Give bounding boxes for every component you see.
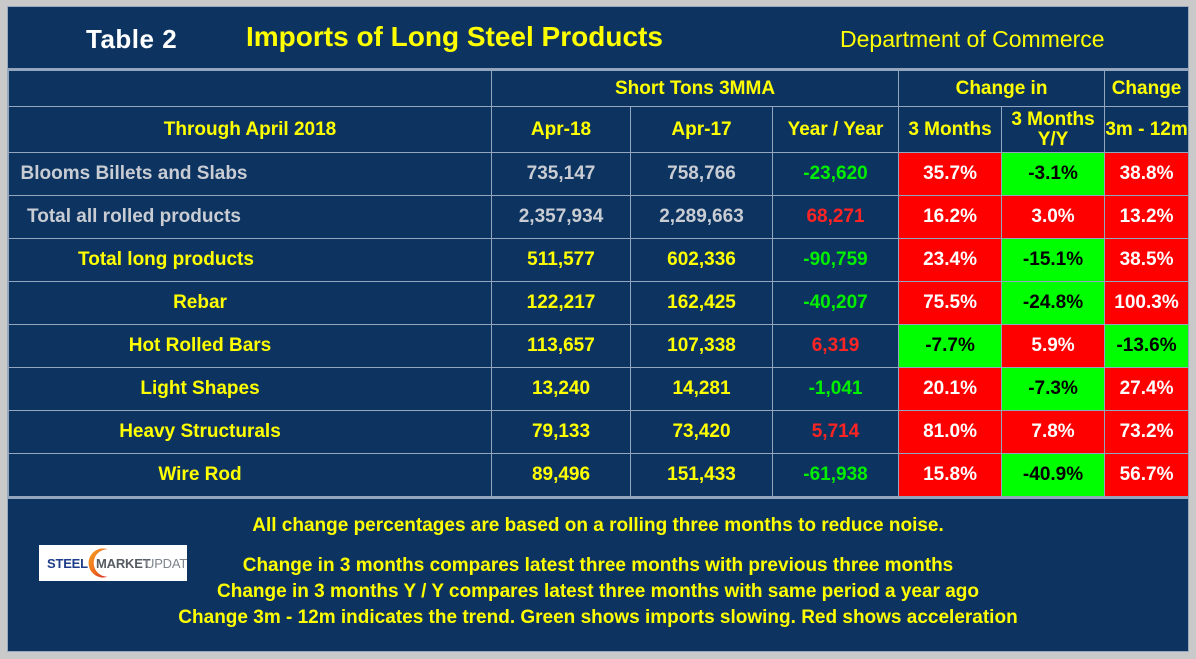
table-row: Total long products511,577602,336-90,759… [9,239,1189,282]
row-label-text: Total all rolled products [27,206,241,228]
row-label-text: Rebar [173,292,227,314]
cell-change-3m-12m: -13.6% [1105,325,1189,368]
table-panel: Table 2 Imports of Long Steel Products D… [7,6,1189,652]
footer-notes: STEEL MARKET UPDATE All change percentag… [8,497,1188,645]
data-source-label: Department of Commerce [840,26,1105,53]
cell-apr18: 89,496 [492,454,631,497]
row-label-cell: Rebar [9,282,492,325]
page-title: Imports of Long Steel Products [246,21,663,53]
cell-apr17: 602,336 [631,239,773,282]
cell-year-over-year: -1,041 [773,368,899,411]
cell-year-over-year: 6,319 [773,325,899,368]
cell-change-3-months: 35.7% [899,153,1002,196]
cell-apr17: 14,281 [631,368,773,411]
table-header-group-row: Short Tons 3MMA Change in Change [9,71,1189,107]
header-col-3m-12m: 3m - 12m [1105,107,1189,153]
cell-change-3-months-yy: -40.9% [1002,454,1105,497]
cell-change-3-months: 15.8% [899,454,1002,497]
row-label-cell: Blooms Billets and Slabs [9,153,492,196]
cell-apr18: 13,240 [492,368,631,411]
imports-table: Short Tons 3MMA Change in Change Through… [8,70,1189,497]
cell-apr17: 2,289,663 [631,196,773,239]
row-label-cell: Light Shapes [9,368,492,411]
footer-note-line-4: Change 3m - 12m indicates the trend. Gre… [8,607,1188,629]
header-group-change-in: Change in [899,71,1105,107]
cell-year-over-year: -40,207 [773,282,899,325]
footer-note-line-3: Change in 3 months Y / Y compares latest… [8,581,1188,603]
screenshot-frame: Table 2 Imports of Long Steel Products D… [0,0,1196,659]
header-col-3-months-yy-line2: Y/Y [1038,129,1069,150]
cell-year-over-year: -61,938 [773,454,899,497]
row-label-text: Blooms Billets and Slabs [21,163,248,185]
title-bar: Table 2 Imports of Long Steel Products D… [8,7,1188,70]
cell-change-3-months-yy: 5.9% [1002,325,1105,368]
cell-apr18: 113,657 [492,325,631,368]
cell-change-3m-12m: 38.5% [1105,239,1189,282]
cell-change-3m-12m: 100.3% [1105,282,1189,325]
cell-change-3m-12m: 38.8% [1105,153,1189,196]
cell-apr17: 162,425 [631,282,773,325]
cell-apr18: 79,133 [492,411,631,454]
footer-note-line-1: All change percentages are based on a ro… [8,515,1188,537]
cell-apr18: 511,577 [492,239,631,282]
table-row: Total all rolled products2,357,9342,289,… [9,196,1189,239]
row-label-cell: Hot Rolled Bars [9,325,492,368]
cell-change-3-months: 20.1% [899,368,1002,411]
row-label-text: Heavy Structurals [119,421,281,443]
cell-year-over-year: -90,759 [773,239,899,282]
cell-apr17: 758,766 [631,153,773,196]
cell-change-3m-12m: 73.2% [1105,411,1189,454]
header-col-year-over-year: Year / Year [773,107,899,153]
cell-apr18: 735,147 [492,153,631,196]
cell-change-3-months: 16.2% [899,196,1002,239]
cell-change-3-months-yy: 3.0% [1002,196,1105,239]
table-number-label: Table 2 [86,24,177,55]
header-group-change: Change [1105,71,1189,107]
row-label-text: Light Shapes [140,378,259,400]
table-row: Hot Rolled Bars113,657107,3386,319-7.7%5… [9,325,1189,368]
table-row: Heavy Structurals79,13373,4205,71481.0%7… [9,411,1189,454]
cell-apr18: 122,217 [492,282,631,325]
footer-note-line-2: Change in 3 months compares latest three… [8,555,1188,577]
row-label-text: Total long products [78,249,254,271]
cell-change-3-months: 81.0% [899,411,1002,454]
cell-change-3-months-yy: -24.8% [1002,282,1105,325]
table-row: Blooms Billets and Slabs735,147758,766-2… [9,153,1189,196]
header-col-apr17: Apr-17 [631,107,773,153]
table-row: Light Shapes13,24014,281-1,04120.1%-7.3%… [9,368,1189,411]
cell-year-over-year: -23,620 [773,153,899,196]
table-header-column-row: Through April 2018 Apr-18 Apr-17 Year / … [9,107,1189,153]
header-col-3-months-yy: 3 Months Y/Y [1002,107,1105,153]
cell-year-over-year: 5,714 [773,411,899,454]
row-label-text: Hot Rolled Bars [129,335,272,357]
cell-change-3-months-yy: 7.8% [1002,411,1105,454]
cell-change-3m-12m: 13.2% [1105,196,1189,239]
cell-change-3-months: 23.4% [899,239,1002,282]
row-label-cell: Total all rolled products [9,196,492,239]
row-label-cell: Wire Rod [9,454,492,497]
cell-change-3m-12m: 27.4% [1105,368,1189,411]
header-blank-cell [9,71,492,107]
cell-change-3-months: 75.5% [899,282,1002,325]
cell-change-3m-12m: 56.7% [1105,454,1189,497]
cell-change-3-months-yy: -7.3% [1002,368,1105,411]
cell-apr17: 73,420 [631,411,773,454]
header-through-period: Through April 2018 [9,107,492,153]
cell-apr17: 151,433 [631,454,773,497]
table-row: Wire Rod89,496151,433-61,93815.8%-40.9%5… [9,454,1189,497]
cell-apr17: 107,338 [631,325,773,368]
table-row: Rebar122,217162,425-40,20775.5%-24.8%100… [9,282,1189,325]
cell-year-over-year: 68,271 [773,196,899,239]
cell-apr18: 2,357,934 [492,196,631,239]
header-group-short-tons: Short Tons 3MMA [492,71,899,107]
cell-change-3-months-yy: -3.1% [1002,153,1105,196]
row-label-text: Wire Rod [158,464,241,486]
header-col-3-months: 3 Months [899,107,1002,153]
header-col-3-months-yy-line1: 3 Months [1011,109,1094,130]
row-label-cell: Total long products [9,239,492,282]
cell-change-3-months-yy: -15.1% [1002,239,1105,282]
header-col-apr18: Apr-18 [492,107,631,153]
cell-change-3-months: -7.7% [899,325,1002,368]
row-label-cell: Heavy Structurals [9,411,492,454]
